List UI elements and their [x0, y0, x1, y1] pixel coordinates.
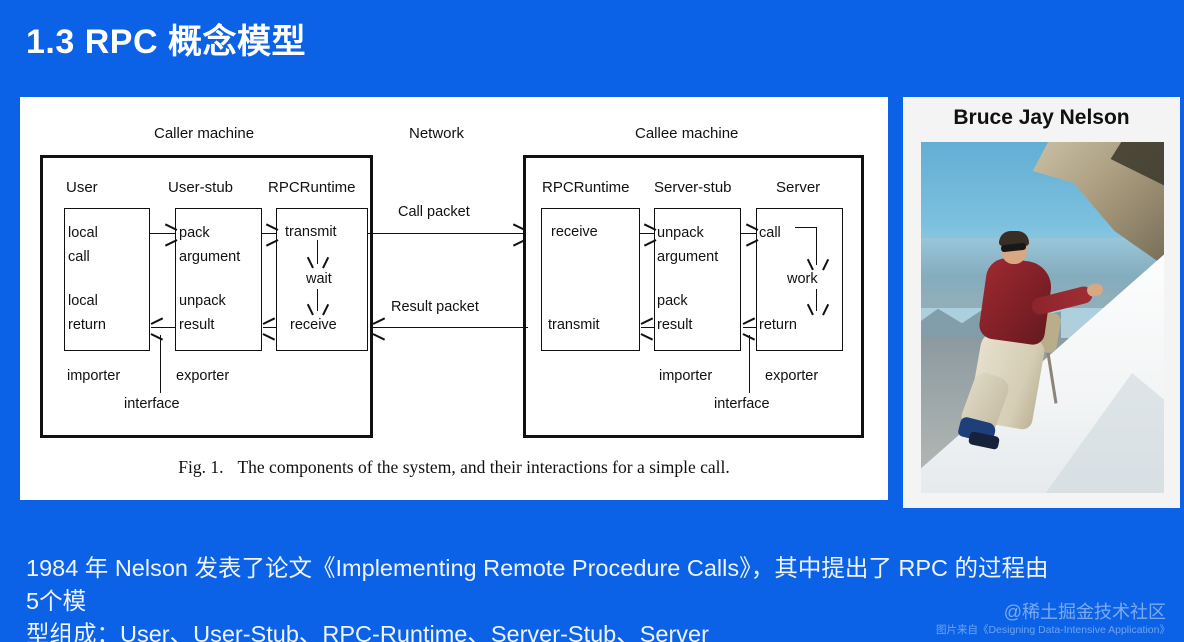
caller-return-line-2 — [151, 327, 175, 328]
portrait-photo — [921, 142, 1164, 493]
portrait-name: Bruce Jay Nelson — [903, 106, 1180, 130]
callee-server-flow-line-1 — [816, 227, 817, 265]
caller-col-rpcruntime-header: RPCRuntime — [268, 180, 356, 196]
callee-serverstub-pack: pack — [657, 294, 688, 309]
portrait-card: Bruce Jay Nelson — [903, 97, 1180, 508]
callee-server-flow-line-2 — [816, 289, 817, 311]
caller-rpcruntime-receive: receive — [290, 318, 337, 333]
caller-importer-label: importer — [67, 369, 120, 384]
body-line-1: 1984 年 Nelson 发表了论文《Implementing Remote … — [26, 552, 1066, 618]
caller-rpcruntime-transmit: transmit — [285, 225, 337, 240]
caller-interface-leader — [160, 335, 161, 393]
image-source-note: 图片来自《Designing Data-Intensive Applicatio… — [936, 622, 1170, 637]
caller-call-line-1 — [150, 233, 175, 234]
climber-hand — [1086, 282, 1104, 297]
figure-caption-number: Fig. 1. — [178, 457, 223, 477]
callee-col-serverstub-header: Server-stub — [654, 180, 732, 196]
callee-serverstub-result: result — [657, 318, 692, 333]
caller-user-return: return — [68, 318, 106, 333]
callee-server-work: work — [787, 272, 818, 287]
network-title: Network — [409, 126, 464, 142]
callee-server-call: call — [759, 226, 781, 241]
rpc-figure-card: Caller machine Network Callee machine Us… — [20, 97, 888, 500]
caller-userstub-unpack: unpack — [179, 294, 226, 309]
callee-server-return: return — [759, 318, 797, 333]
call-packet-label: Call packet — [398, 205, 470, 220]
caller-rpcruntime-wait: wait — [306, 272, 332, 287]
caller-col-user-header: User — [66, 180, 98, 196]
caller-interface-label: interface — [124, 397, 180, 412]
caller-col-userstub-header: User-stub — [168, 180, 233, 196]
caller-return-line-1 — [263, 327, 276, 328]
photo-climber — [973, 234, 1113, 449]
callee-interface-leader — [749, 335, 750, 393]
slide-root: 1.3 RPC 概念模型 Caller machine Network Call… — [0, 0, 1184, 642]
callee-interface-label: interface — [714, 397, 770, 412]
caller-exporter-label: exporter — [176, 369, 229, 384]
callee-serverstub-unpack: unpack — [657, 226, 704, 241]
figure-caption-text: The components of the system, and their … — [237, 457, 729, 477]
callee-return-line-1 — [743, 327, 756, 328]
body-paragraph: 1984 年 Nelson 发表了论文《Implementing Remote … — [26, 552, 1066, 642]
callee-serverstub-argument: argument — [657, 250, 718, 265]
photo-rock-shadow — [1104, 142, 1164, 208]
caller-call-line-2 — [262, 233, 276, 234]
result-packet-label: Result packet — [391, 300, 479, 315]
caller-flow-line-1 — [317, 240, 318, 264]
callee-machine-title: Callee machine — [635, 126, 738, 142]
figure-caption: Fig. 1.The components of the system, and… — [20, 457, 888, 478]
callee-return-line-2 — [641, 327, 654, 328]
page-title: 1.3 RPC 概念模型 — [26, 14, 306, 63]
rpc-diagram: Caller machine Network Callee machine Us… — [20, 97, 888, 500]
callee-rpcruntime-transmit: transmit — [548, 318, 600, 333]
callee-call-line-2 — [741, 233, 756, 234]
callee-col-rpcruntime-header: RPCRuntime — [542, 180, 630, 196]
community-watermark: @稀土掘金技术社区 — [1004, 598, 1166, 624]
body-line-2: 型组成：User、User-Stub、RPC-Runtime、Server-St… — [26, 618, 1066, 642]
caller-user-local-2: local — [68, 294, 98, 309]
callee-server-flow-top — [795, 227, 817, 228]
callee-rpcruntime-receive: receive — [551, 225, 598, 240]
caller-userstub-argument: argument — [179, 250, 240, 265]
callee-col-server-header: Server — [776, 180, 820, 196]
caller-userstub-pack: pack — [179, 226, 210, 241]
callee-exporter-label: exporter — [765, 369, 818, 384]
result-packet-line — [373, 327, 528, 328]
caller-machine-title: Caller machine — [154, 126, 254, 142]
caller-user-local: local — [68, 226, 98, 241]
caller-user-call: call — [68, 250, 90, 265]
caller-userstub-result: result — [179, 318, 214, 333]
callee-call-line-1 — [640, 233, 654, 234]
caller-flow-line-2 — [317, 289, 318, 311]
call-packet-line — [368, 233, 523, 234]
climber-crampon — [968, 431, 1000, 450]
callee-importer-label: importer — [659, 369, 712, 384]
